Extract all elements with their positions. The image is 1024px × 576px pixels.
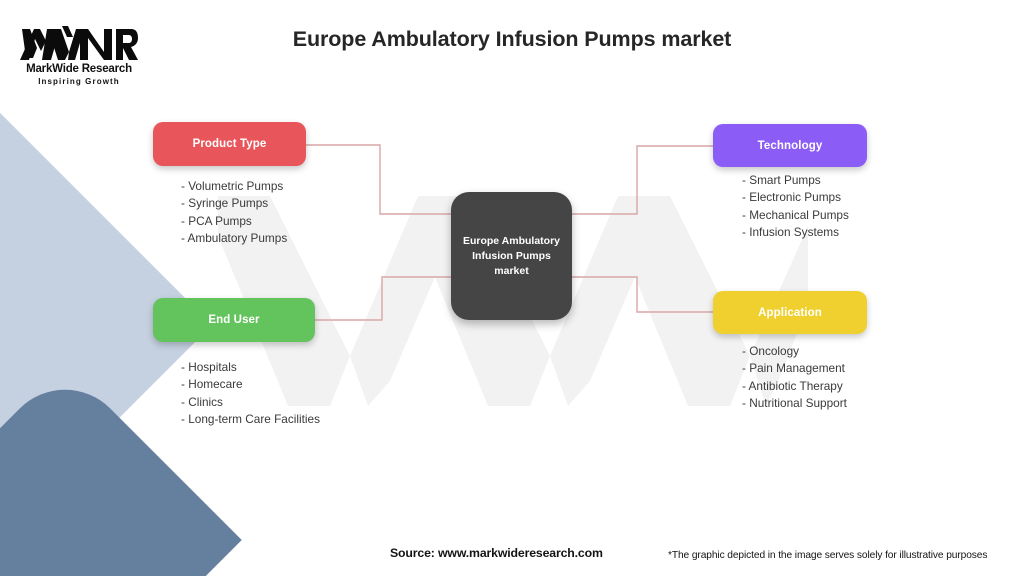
footer-source: Source: www.markwideresearch.com [390,546,603,560]
list-item: - Homecare [181,376,320,393]
node-technology[interactable]: Technology [713,124,867,167]
list-end-user: - Hospitals - Homecare - Clinics - Long-… [181,359,320,429]
logo-company-name: MarkWide Research [16,63,142,76]
list-item: - Syringe Pumps [181,195,287,212]
list-product-type: - Volumetric Pumps - Syringe Pumps - PCA… [181,178,287,248]
list-item: - Pain Management [742,360,847,377]
list-item: - Ambulatory Pumps [181,230,287,247]
page-title: Europe Ambulatory Infusion Pumps market [0,27,1024,52]
footer-disclaimer: *The graphic depicted in the image serve… [668,550,987,561]
list-item: - Clinics [181,394,320,411]
list-item: - Volumetric Pumps [181,178,287,195]
list-item: - Oncology [742,343,847,360]
logo-tagline: Inspiring Growth [16,76,142,87]
connector-technology [572,146,713,214]
list-item: - Nutritional Support [742,395,847,412]
connector-end-user [315,277,451,320]
connector-product-type [306,145,451,214]
list-item: - PCA Pumps [181,213,287,230]
list-item: - Mechanical Pumps [742,207,849,224]
list-item: - Electronic Pumps [742,189,849,206]
node-product-type[interactable]: Product Type [153,122,306,166]
connector-application [572,277,713,312]
list-item: - Smart Pumps [742,172,849,189]
list-technology: - Smart Pumps - Electronic Pumps - Mecha… [742,172,849,242]
center-node[interactable]: Europe Ambulatory Infusion Pumps market [451,192,572,320]
list-item: - Antibiotic Therapy [742,378,847,395]
node-application[interactable]: Application [713,291,867,334]
list-item: - Infusion Systems [742,224,849,241]
infographic-canvas: MarkWide Research Inspiring Growth Europ… [0,0,1024,576]
list-application: - Oncology - Pain Management - Antibioti… [742,343,847,413]
list-item: - Long-term Care Facilities [181,411,320,428]
node-end-user[interactable]: End User [153,298,315,342]
list-item: - Hospitals [181,359,320,376]
